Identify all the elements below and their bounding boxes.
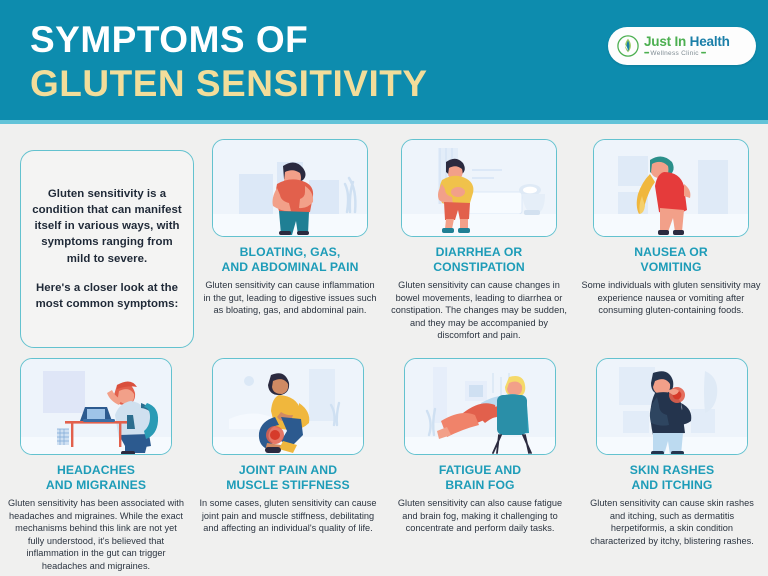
symptom-card-diarrhea-or-constipation[interactable]: DIARRHEA ORCONSTIPATION Gluten sensitivi… [384, 128, 574, 348]
symptom-card-joint-pain-and-muscle-stiffness[interactable]: JOINT PAIN ANDMUSCLE STIFFNESS In some c… [192, 348, 384, 573]
logo-name: Just In Health [644, 35, 730, 49]
header-banner: SYMPTOMS OF GLUTEN SENSITIVITY Just In H… [0, 0, 768, 120]
person-in-bathroom-near-toilet-illustration [401, 139, 557, 237]
card-body: Gluten sensitivity can cause inflammatio… [202, 279, 378, 317]
card-title: JOINT PAIN ANDMUSCLE STIFFNESS [226, 463, 349, 492]
logo-name-part2: Health [690, 34, 730, 49]
symptom-card-headaches-and-migraines[interactable]: HEADACHESAND MIGRAINES Gluten sensitivit… [0, 348, 192, 573]
person-holding-painful-ankle-illustration [212, 358, 364, 455]
infographic-page: SYMPTOMS OF GLUTEN SENSITIVITY Just In H… [0, 0, 768, 576]
card-body: Gluten sensitivity can also cause fatigu… [390, 497, 570, 535]
symptom-row-1: Gluten sensitivity is a condition that c… [0, 128, 768, 348]
logo-tagline: Wellness Clinic [650, 51, 698, 58]
symptom-card-skin-rashes-and-itching[interactable]: SKIN RASHESAND ITCHING Gluten sensitivit… [576, 348, 768, 573]
logo-text-block: Just In Health •••• Wellness Clinic •••• [644, 35, 730, 57]
symptoms-grid: Gluten sensitivity is a condition that c… [0, 128, 768, 573]
intro-text: Gluten sensitivity is a condition that c… [31, 186, 183, 312]
man-at-desk-with-laptop-headache-illustration [20, 358, 172, 455]
logo-dots-left: •••• [644, 51, 648, 57]
title-line-2: GLUTEN SENSITIVITY [30, 62, 428, 106]
man-scratching-itchy-skin-illustration [596, 358, 748, 455]
card-body: Gluten sensitivity can cause changes in … [390, 279, 568, 342]
symptom-card-fatigue-and-brain-fog[interactable]: FATIGUE ANDBRAIN FOG Gluten sensitivity … [384, 348, 576, 573]
logo-tagline-row: •••• Wellness Clinic •••• [644, 51, 730, 58]
card-title: HEADACHESAND MIGRAINES [46, 463, 146, 492]
title-line-1: SYMPTOMS OF [30, 18, 428, 62]
leaf-water-drop-logo-icon [617, 35, 639, 57]
intro-paragraph-1: Gluten sensitivity is a condition that c… [32, 188, 181, 265]
card-title: BLOATING, GAS,AND ABDOMINAL PAIN [222, 245, 359, 274]
intro-card: Gluten sensitivity is a condition that c… [20, 150, 194, 348]
brand-logo[interactable]: Just In Health •••• Wellness Clinic •••• [608, 27, 756, 65]
card-body: Gluten sensitivity can cause skin rashes… [582, 497, 762, 547]
logo-name-part1: Just In [644, 34, 690, 49]
card-body: Gluten sensitivity has been associated w… [6, 497, 186, 573]
card-body: In some cases, gluten sensitivity can ca… [198, 497, 378, 535]
card-title: DIARRHEA ORCONSTIPATION [433, 245, 524, 274]
intro-paragraph-2: Here's a closer look at the most common … [36, 282, 179, 310]
tired-person-slouched-in-chair-illustration [404, 358, 556, 455]
card-title: SKIN RASHESAND ITCHING [630, 463, 714, 492]
card-title: FATIGUE ANDBRAIN FOG [439, 463, 521, 492]
page-title: SYMPTOMS OF GLUTEN SENSITIVITY [30, 18, 428, 106]
symptom-card-bloating-gas-abdominal-pain[interactable]: BLOATING, GAS,AND ABDOMINAL PAIN Gluten … [196, 128, 384, 348]
woman-vomiting-illustration [593, 139, 749, 237]
header-divider [0, 120, 768, 124]
intro-cell: Gluten sensitivity is a condition that c… [0, 128, 196, 348]
symptom-row-2: HEADACHESAND MIGRAINES Gluten sensitivit… [0, 348, 768, 573]
logo-dots-right: •••• [701, 51, 705, 57]
man-holding-stomach-in-pain-illustration [212, 139, 368, 237]
card-body: Some individuals with gluten sensitivity… [580, 279, 762, 317]
card-title: NAUSEA ORVOMITING [634, 245, 708, 274]
symptom-card-nausea-or-vomiting[interactable]: NAUSEA ORVOMITING Some individuals with … [574, 128, 768, 348]
